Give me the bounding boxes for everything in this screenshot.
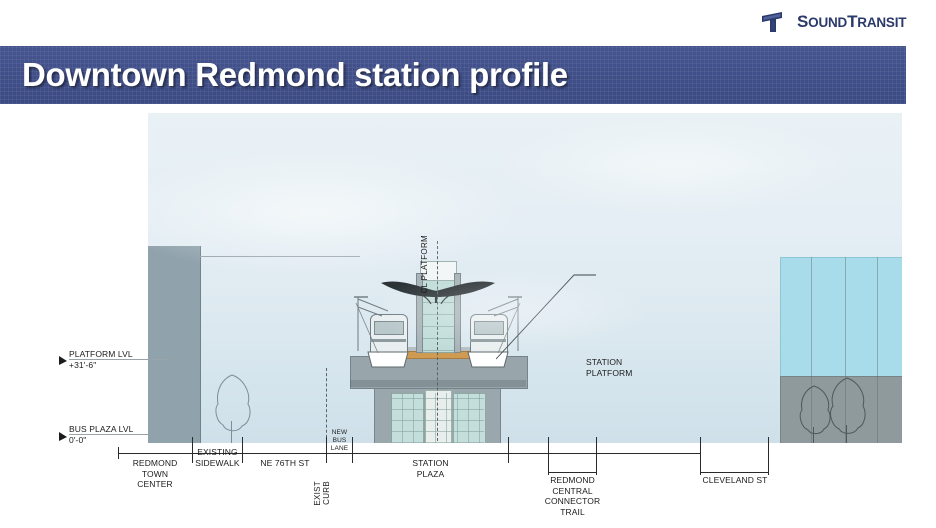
bus-plaza-level-marker-icon (57, 430, 69, 442)
guideway-slab-shadow (350, 380, 526, 387)
redmond-town-center-building (148, 246, 201, 443)
zone-label-cleveland-st: CLEVELAND ST (700, 475, 770, 486)
platform-level-guideline (200, 256, 360, 257)
zone-line: CENTER (137, 479, 173, 489)
zone-label-existing-sidewalk: EXISTING SIDEWALK (192, 447, 243, 468)
platform-level-leader (69, 359, 169, 360)
zone-label-station-plaza: STATION PLAZA (352, 458, 509, 479)
sound-transit-wordmark: SOUNDTRANSIT (797, 12, 906, 32)
exist-curb-label-line2: CURB (322, 481, 332, 505)
zone-line: EXISTING (197, 447, 237, 457)
station-platform-callout-line2: PLATFORM (586, 368, 632, 378)
zone-line: REDMOND (550, 475, 595, 485)
zone-line: CONNECTOR (545, 496, 601, 506)
dim-tick-9 (768, 437, 769, 475)
zone-line: STATION (412, 458, 448, 468)
zone-line: NEW (332, 429, 347, 436)
platform-extent-ticks (348, 303, 528, 357)
zone-label-redmond-central-connector-trail: REDMOND CENTRAL CONNECTOR TRAIL (526, 475, 619, 517)
zone-line: NE 76TH ST (260, 458, 309, 468)
station-platform-callout-line1: STATION (586, 357, 622, 367)
zone-label-new-bus-lane: NEW BUS LANE (326, 429, 353, 453)
zone-label-redmond-town-center: REDMOND TOWN CENTER (120, 458, 190, 490)
dim-tick-6 (548, 437, 549, 475)
zone-line: CLEVELAND ST (703, 475, 768, 485)
trail-dimension-line (548, 472, 597, 473)
zone-line: TOWN (142, 469, 168, 479)
station-profile-drawing: CL PLATFORM EXIST CURB STATION PLATFORM … (0, 106, 936, 528)
dim-tick-8 (700, 437, 701, 475)
bus-plaza-level-value: 0'-0" (69, 435, 86, 445)
sound-transit-logo-icon (760, 10, 790, 34)
station-platform-callout: STATION PLATFORM (586, 357, 632, 378)
dim-tick-7 (596, 437, 597, 475)
cleveland-st-building-glass (780, 257, 902, 377)
bus-plaza-level-name: BUS PLAZA LVL (69, 424, 133, 434)
zone-line: CENTRAL (552, 486, 592, 496)
page-title: Downtown Redmond station profile (22, 56, 568, 94)
sound-transit-logo: SOUNDTRANSIT (760, 6, 930, 38)
zone-line: TRAIL (560, 507, 585, 517)
cleveland-st-building-mullion-3 (877, 257, 878, 443)
platform-level-name: PLATFORM LVL (69, 349, 133, 359)
platform-level-value: +31'-6" (69, 360, 96, 370)
zone-line: LANE (331, 445, 348, 452)
station-elevation-render (148, 113, 902, 443)
cleveland-dimension-line (700, 472, 769, 473)
zone-line: PLAZA (417, 469, 444, 479)
slide-title-bar: Downtown Redmond station profile (0, 46, 906, 104)
dim-tick-0 (118, 447, 119, 459)
tree-icon-right-b (824, 375, 870, 443)
bus-plaza-level-leader (69, 434, 155, 435)
zone-line: SIDEWALK (195, 458, 239, 468)
tree-icon-left (210, 371, 254, 443)
zone-line: BUS (333, 437, 347, 444)
zone-line: REDMOND (133, 458, 178, 468)
zone-label-ne-76th-st: NE 76TH ST (243, 458, 327, 469)
cl-platform-label: CL PLATFORM (420, 235, 430, 293)
platform-level-marker-icon (57, 354, 69, 366)
